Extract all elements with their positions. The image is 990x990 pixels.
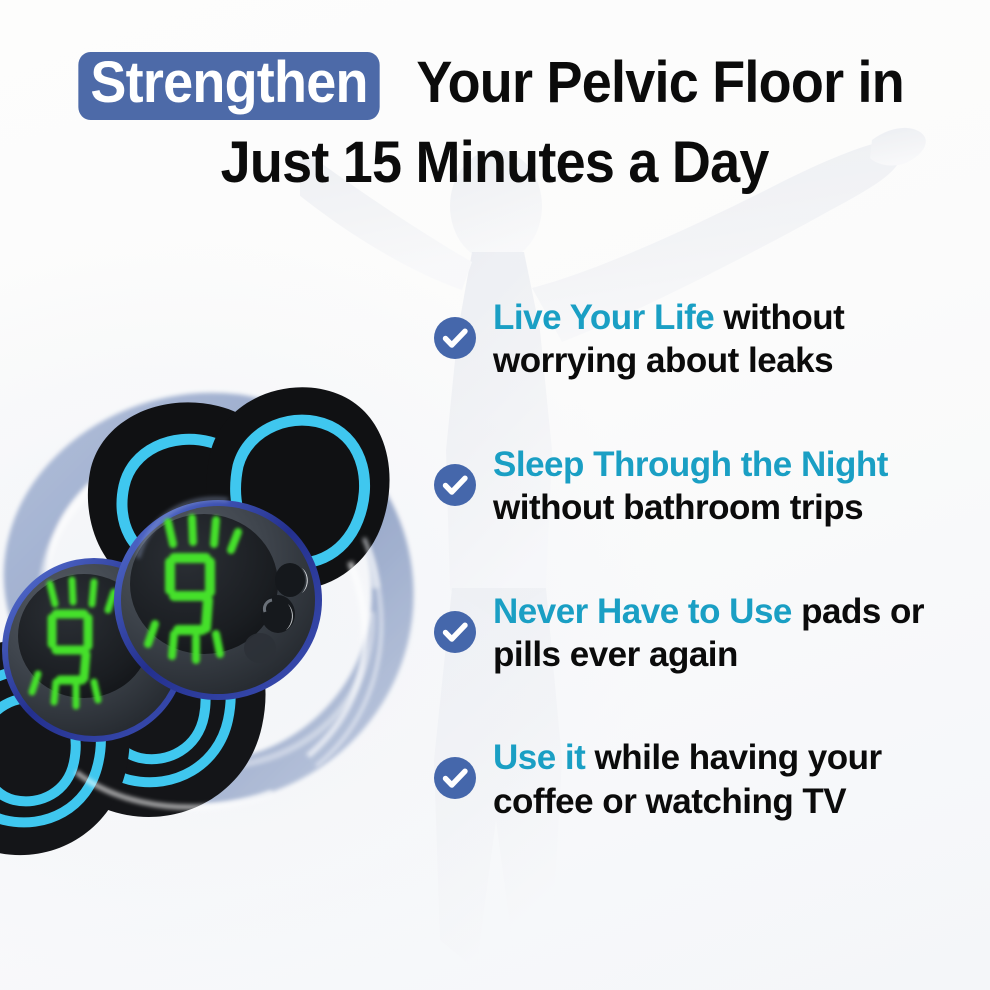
headline-line-2-text: Just 15 Minutes a Day: [221, 134, 769, 192]
headline: StrengthenYour Pelvic Floor in Just 15 M…: [0, 52, 990, 192]
list-item-rest: without bathroom trips: [493, 488, 863, 527]
list-item-text: Use it while having your coffee or watch…: [493, 736, 974, 823]
list-item-lead: Sleep Through the Night: [493, 445, 888, 484]
product-image-ems-massager: [0, 362, 432, 882]
list-item: Use it while having your coffee or watch…: [434, 736, 974, 823]
check-circle-icon: [434, 757, 476, 799]
headline-line-1-rest: Your Pelvic Floor in: [417, 54, 905, 112]
strengthen-badge: Strengthen: [79, 52, 380, 120]
list-item-lead: Use it: [493, 738, 585, 777]
list-item-text: Live Your Life without worrying about le…: [493, 296, 974, 383]
headline-line-2: Just 15 Minutes a Day: [0, 134, 990, 192]
device-hub-primary: [114, 499, 322, 700]
check-circle-icon: [434, 611, 476, 653]
headline-line-1: StrengthenYour Pelvic Floor in: [0, 52, 990, 120]
infographic-canvas: StrengthenYour Pelvic Floor in Just 15 M…: [0, 0, 990, 990]
list-item-lead: Live Your Life: [493, 298, 714, 337]
benefits-list: Live Your Life without worrying about le…: [434, 296, 974, 823]
list-item-text: Never Have to Use pads or pills ever aga…: [493, 590, 974, 677]
check-circle-icon: [434, 317, 476, 359]
list-item-text: Sleep Through the Night without bathroom…: [493, 443, 974, 530]
check-circle-icon: [434, 464, 476, 506]
list-item: Never Have to Use pads or pills ever aga…: [434, 590, 974, 677]
list-item-lead: Never Have to Use: [493, 592, 792, 631]
list-item: Sleep Through the Night without bathroom…: [434, 443, 974, 530]
list-item: Live Your Life without worrying about le…: [434, 296, 974, 383]
